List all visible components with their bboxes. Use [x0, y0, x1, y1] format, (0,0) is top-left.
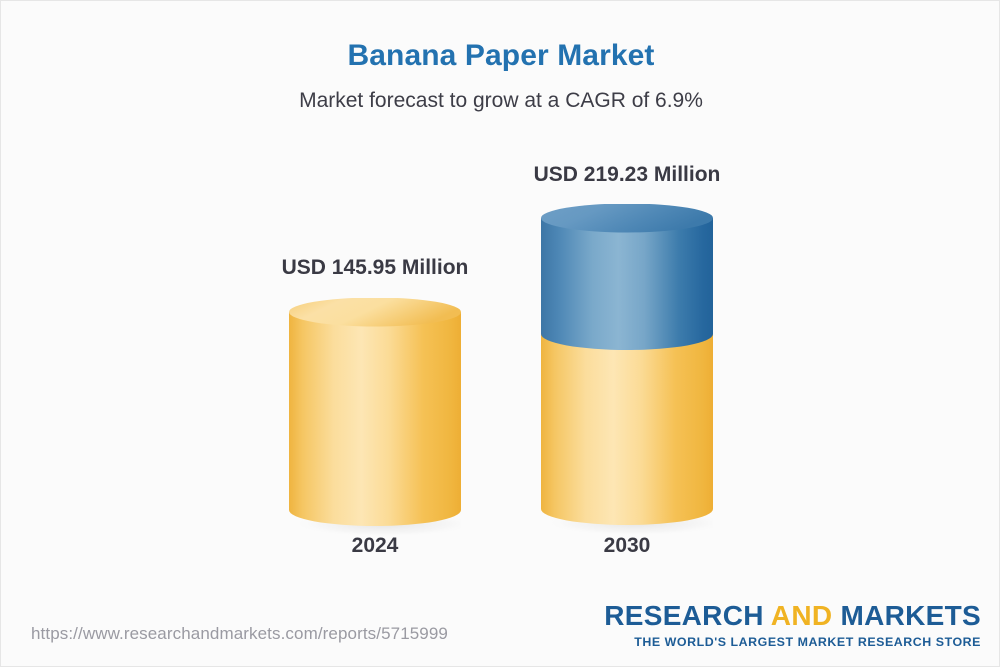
source-url[interactable]: https://www.researchandmarkets.com/repor…: [31, 624, 448, 644]
chart-canvas: Banana Paper Market Market forecast to g…: [0, 0, 1000, 667]
cylinder-2024[interactable]: [289, 298, 461, 518]
research-and-markets-logo[interactable]: RESEARCH AND MARKETS THE WORLD'S LARGEST…: [604, 602, 981, 648]
logo-wordmark: RESEARCH AND MARKETS: [604, 602, 981, 630]
category-label-2024: 2024: [289, 534, 461, 558]
category-label-2030: 2030: [541, 534, 713, 558]
plot-area: USD 145.95 Million: [1, 1, 1000, 601]
cylinder-2030-svg: [541, 204, 713, 537]
cylinder-2030[interactable]: [541, 204, 713, 517]
logo-word-research: RESEARCH: [604, 600, 764, 631]
cylinder-2024-svg: [289, 298, 461, 538]
logo-tagline: THE WORLD'S LARGEST MARKET RESEARCH STOR…: [604, 636, 981, 648]
logo-word-markets: MARKETS: [840, 600, 981, 631]
bar-value-label-2030: USD 219.23 Million: [534, 163, 721, 187]
logo-word-and: AND: [771, 600, 833, 631]
bar-value-label-2024: USD 145.95 Million: [282, 256, 469, 280]
